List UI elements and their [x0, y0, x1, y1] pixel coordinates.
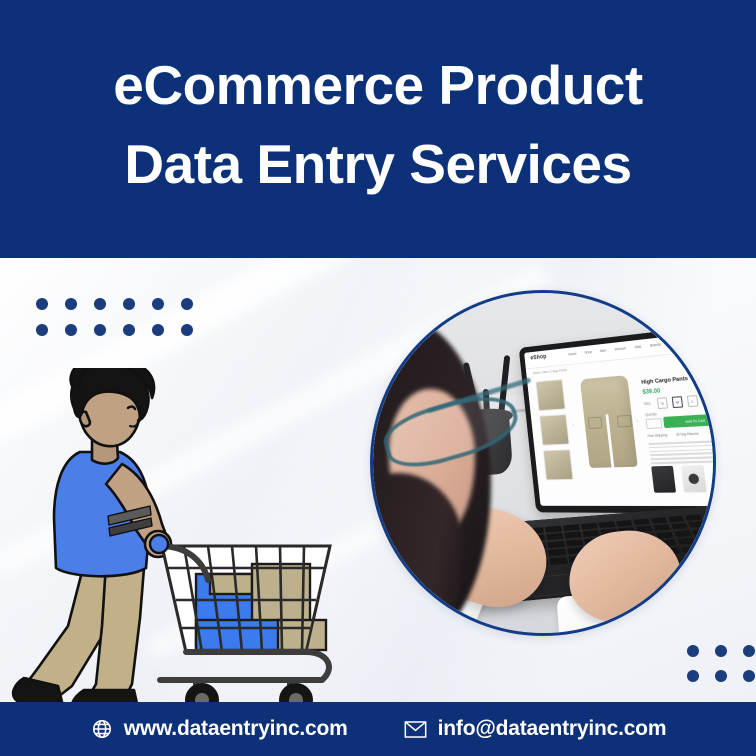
prev-image-icon[interactable]: ‹ — [572, 422, 574, 428]
decor-dot — [94, 298, 106, 310]
key — [547, 533, 564, 541]
related-products[interactable] — [651, 465, 707, 493]
key — [653, 524, 671, 531]
key — [598, 521, 615, 528]
key — [548, 541, 565, 549]
decor-dot — [65, 324, 77, 336]
key — [581, 523, 598, 530]
shipping-info: Free Shipping 30 Day Returns — [647, 432, 699, 438]
related-product[interactable] — [681, 465, 707, 492]
dot-pattern-bottom-right — [687, 645, 755, 682]
product-thumbnail[interactable] — [543, 449, 574, 480]
product-title: High Cargo Pants — [641, 376, 688, 386]
key — [633, 519, 650, 526]
photo-content: eShop Home Shop Men Women Kids Brands Ab… — [373, 293, 713, 633]
size-option[interactable]: L — [687, 395, 699, 407]
key — [565, 532, 582, 540]
size-option[interactable]: XL — [702, 394, 713, 406]
related-product[interactable] — [651, 466, 676, 493]
size-label: Size: — [644, 401, 652, 406]
dot-pattern-top-left — [36, 298, 193, 336]
next-image-icon[interactable]: › — [636, 418, 639, 424]
page-title: eCommerce Product Data Entry Services — [0, 46, 756, 204]
promo-poster: eCommerce Product Data Entry Services — [0, 0, 756, 756]
decor-dot — [123, 298, 135, 310]
website-url[interactable]: www.dataentryinc.com — [124, 717, 348, 741]
pants-detail — [605, 414, 614, 469]
decor-dot — [743, 645, 755, 657]
key — [680, 546, 699, 554]
key — [698, 544, 713, 552]
key — [691, 529, 709, 536]
decor-dot — [123, 324, 135, 336]
text-line — [649, 444, 713, 448]
decor-dot — [65, 298, 77, 310]
key — [550, 557, 568, 565]
key — [671, 523, 689, 530]
size-selector[interactable]: S M L XL — [657, 394, 713, 409]
nav-item[interactable]: Shop — [584, 350, 592, 355]
decor-dot — [715, 645, 727, 657]
decor-dot — [181, 324, 193, 336]
nav-item[interactable]: Men — [600, 348, 607, 353]
text-line — [649, 448, 713, 452]
title-line-1: eCommerce Product — [0, 46, 756, 125]
key — [688, 521, 706, 528]
footer-contact-bar: www.dataentryinc.com info@dataentryinc.c… — [0, 702, 756, 756]
key — [695, 536, 713, 544]
key — [674, 530, 692, 538]
quantity-stepper[interactable] — [646, 418, 663, 429]
decor-dot — [715, 670, 727, 682]
key — [685, 514, 703, 521]
size-option[interactable]: S — [657, 397, 668, 409]
laptop-lid: eShop Home Shop Men Women Kids Brands Ab… — [519, 323, 713, 514]
key — [545, 526, 562, 533]
product-description — [648, 440, 713, 466]
decor-dot — [687, 645, 699, 657]
decor-dot — [152, 324, 164, 336]
breadcrumb: Home / Men / Cargo Pants — [533, 368, 567, 375]
decor-dot — [687, 670, 699, 682]
returns-note: 30 Day Returns — [676, 432, 699, 437]
decor-dot — [94, 324, 106, 336]
key — [566, 539, 583, 547]
quantity-label: Quantity — [645, 412, 657, 417]
shopper-illustration — [10, 368, 340, 710]
decor-dot — [36, 298, 48, 310]
cart-handle-grip — [150, 535, 168, 553]
product-thumbnail[interactable] — [539, 414, 569, 446]
shipping-note: Free Shipping — [647, 433, 667, 438]
title-line-2: Data Entry Services — [0, 125, 756, 204]
key — [677, 538, 696, 546]
pants-pocket — [617, 415, 632, 428]
nav-item[interactable]: Kids — [634, 345, 641, 350]
decor-dot — [152, 298, 164, 310]
website-contact[interactable]: www.dataentryinc.com — [90, 717, 348, 741]
pants-pocket — [588, 417, 603, 429]
header-banner: eCommerce Product Data Entry Services — [0, 0, 756, 258]
decor-dot — [181, 298, 193, 310]
key — [668, 516, 686, 523]
key — [616, 520, 633, 527]
globe-icon — [90, 717, 114, 741]
text-line — [650, 452, 713, 456]
laptop-screen: eShop Home Shop Men Women Kids Brands Ab… — [524, 330, 713, 506]
text-line — [651, 460, 713, 464]
email-contact[interactable]: info@dataentryinc.com — [404, 717, 667, 741]
email-address[interactable]: info@dataentryinc.com — [438, 717, 667, 741]
key — [650, 517, 667, 524]
product-price: $39.00 — [642, 389, 661, 396]
envelope-icon — [404, 717, 428, 741]
add-to-cart-button[interactable]: Add To Cart — [663, 413, 713, 428]
decor-dot — [743, 670, 755, 682]
decor-dot — [36, 324, 48, 336]
key — [549, 549, 567, 557]
product-thumbnails[interactable] — [535, 379, 573, 480]
product-thumbnail[interactable] — [535, 379, 565, 411]
size-option-selected[interactable]: M — [672, 396, 683, 408]
text-line — [650, 456, 713, 460]
photo-circle-laptop: eShop Home Shop Men Women Kids Brands Ab… — [370, 290, 716, 636]
key — [563, 524, 580, 531]
